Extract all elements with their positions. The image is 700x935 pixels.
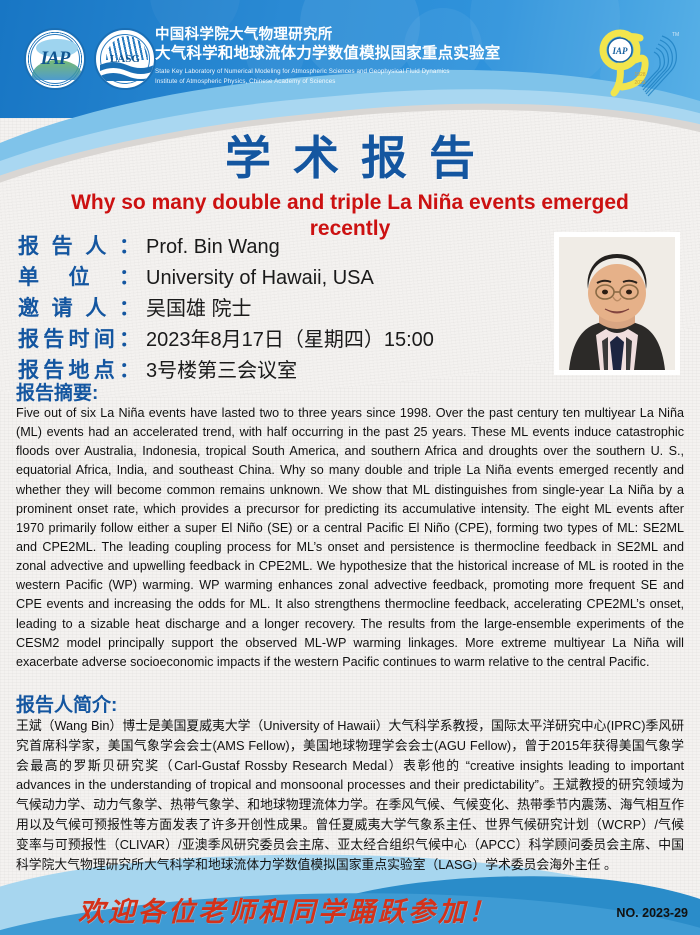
speaker-portrait-image <box>559 237 675 370</box>
anniversary-year-top: 1928 <box>634 72 645 78</box>
org-name-lab: 大气科学和地球流体力学数值模拟国家重点实验室 <box>155 45 500 63</box>
speaker-portrait-illustration <box>559 237 675 370</box>
seminar-poster: IAP LASG 中国科学院大气物理研究所 大气科学和地球流体力学数值模拟国家重… <box>0 0 700 935</box>
lasg-logo-label: LASG <box>110 53 140 65</box>
welcome-message: 欢迎各位老师和同学踊跃参加！ <box>78 890 498 929</box>
abstract-heading: 报告摘要: <box>16 378 98 405</box>
speaker-portrait <box>554 232 680 375</box>
org-name-en-lab: State Key Laboratory of Numerical Modeli… <box>155 67 500 76</box>
anniversary-95-icon: IAP TM 1928 2023 <box>574 20 684 104</box>
info-value-speaker: Prof. Bin Wang <box>140 236 280 259</box>
info-label-speaker: 报告人： <box>18 230 140 260</box>
anniversary-year-bottom: 2023 <box>634 80 645 86</box>
anniversary-tm-mark: TM <box>672 32 679 38</box>
event-info-block: 报告人： Prof. Bin Wang 单位： University of Ha… <box>18 230 434 385</box>
info-label-datetime: 报告时间： <box>18 323 140 353</box>
org-name-institute: 中国科学院大气物理研究所 <box>155 27 500 44</box>
poster-title-cn: 学术报告 <box>0 122 700 188</box>
info-value-affiliation: University of Hawaii, USA <box>140 267 374 290</box>
iap-logo-label: IAP <box>41 48 70 70</box>
poster-serial-number: NO. 2023-29 <box>616 906 688 920</box>
info-value-venue: 3号楼第三会议室 <box>140 354 297 383</box>
info-row-affiliation: 单位： University of Hawaii, USA <box>18 261 434 292</box>
info-label-inviter: 邀请人： <box>18 292 140 322</box>
anniversary-inner-badge: IAP <box>611 46 628 56</box>
info-row-speaker: 报告人： Prof. Bin Wang <box>18 230 434 261</box>
info-value-inviter: 吴国雄 院士 <box>140 292 252 321</box>
organization-names: 中国科学院大气物理研究所 大气科学和地球流体力学数值模拟国家重点实验室 Stat… <box>155 27 500 86</box>
bio-heading: 报告人简介: <box>16 690 117 717</box>
institution-logos: IAP LASG <box>24 28 156 90</box>
info-value-datetime: 2023年8月17日（星期四）15:00 <box>140 323 434 352</box>
info-label-affiliation: 单位： <box>18 261 140 291</box>
bio-body: 王斌（Wang Bin）博士是美国夏威夷大学（University of Haw… <box>16 716 684 875</box>
org-name-en-institute: Institute of Atmospheric Physics, Chines… <box>155 77 500 86</box>
lasg-logo-icon: LASG <box>94 28 156 90</box>
info-row-datetime: 报告时间： 2023年8月17日（星期四）15:00 <box>18 323 434 354</box>
info-row-inviter: 邀请人： 吴国雄 院士 <box>18 292 434 323</box>
iap-logo-icon: IAP <box>24 28 86 90</box>
abstract-body: Five out of six La Niña events have last… <box>16 404 684 672</box>
